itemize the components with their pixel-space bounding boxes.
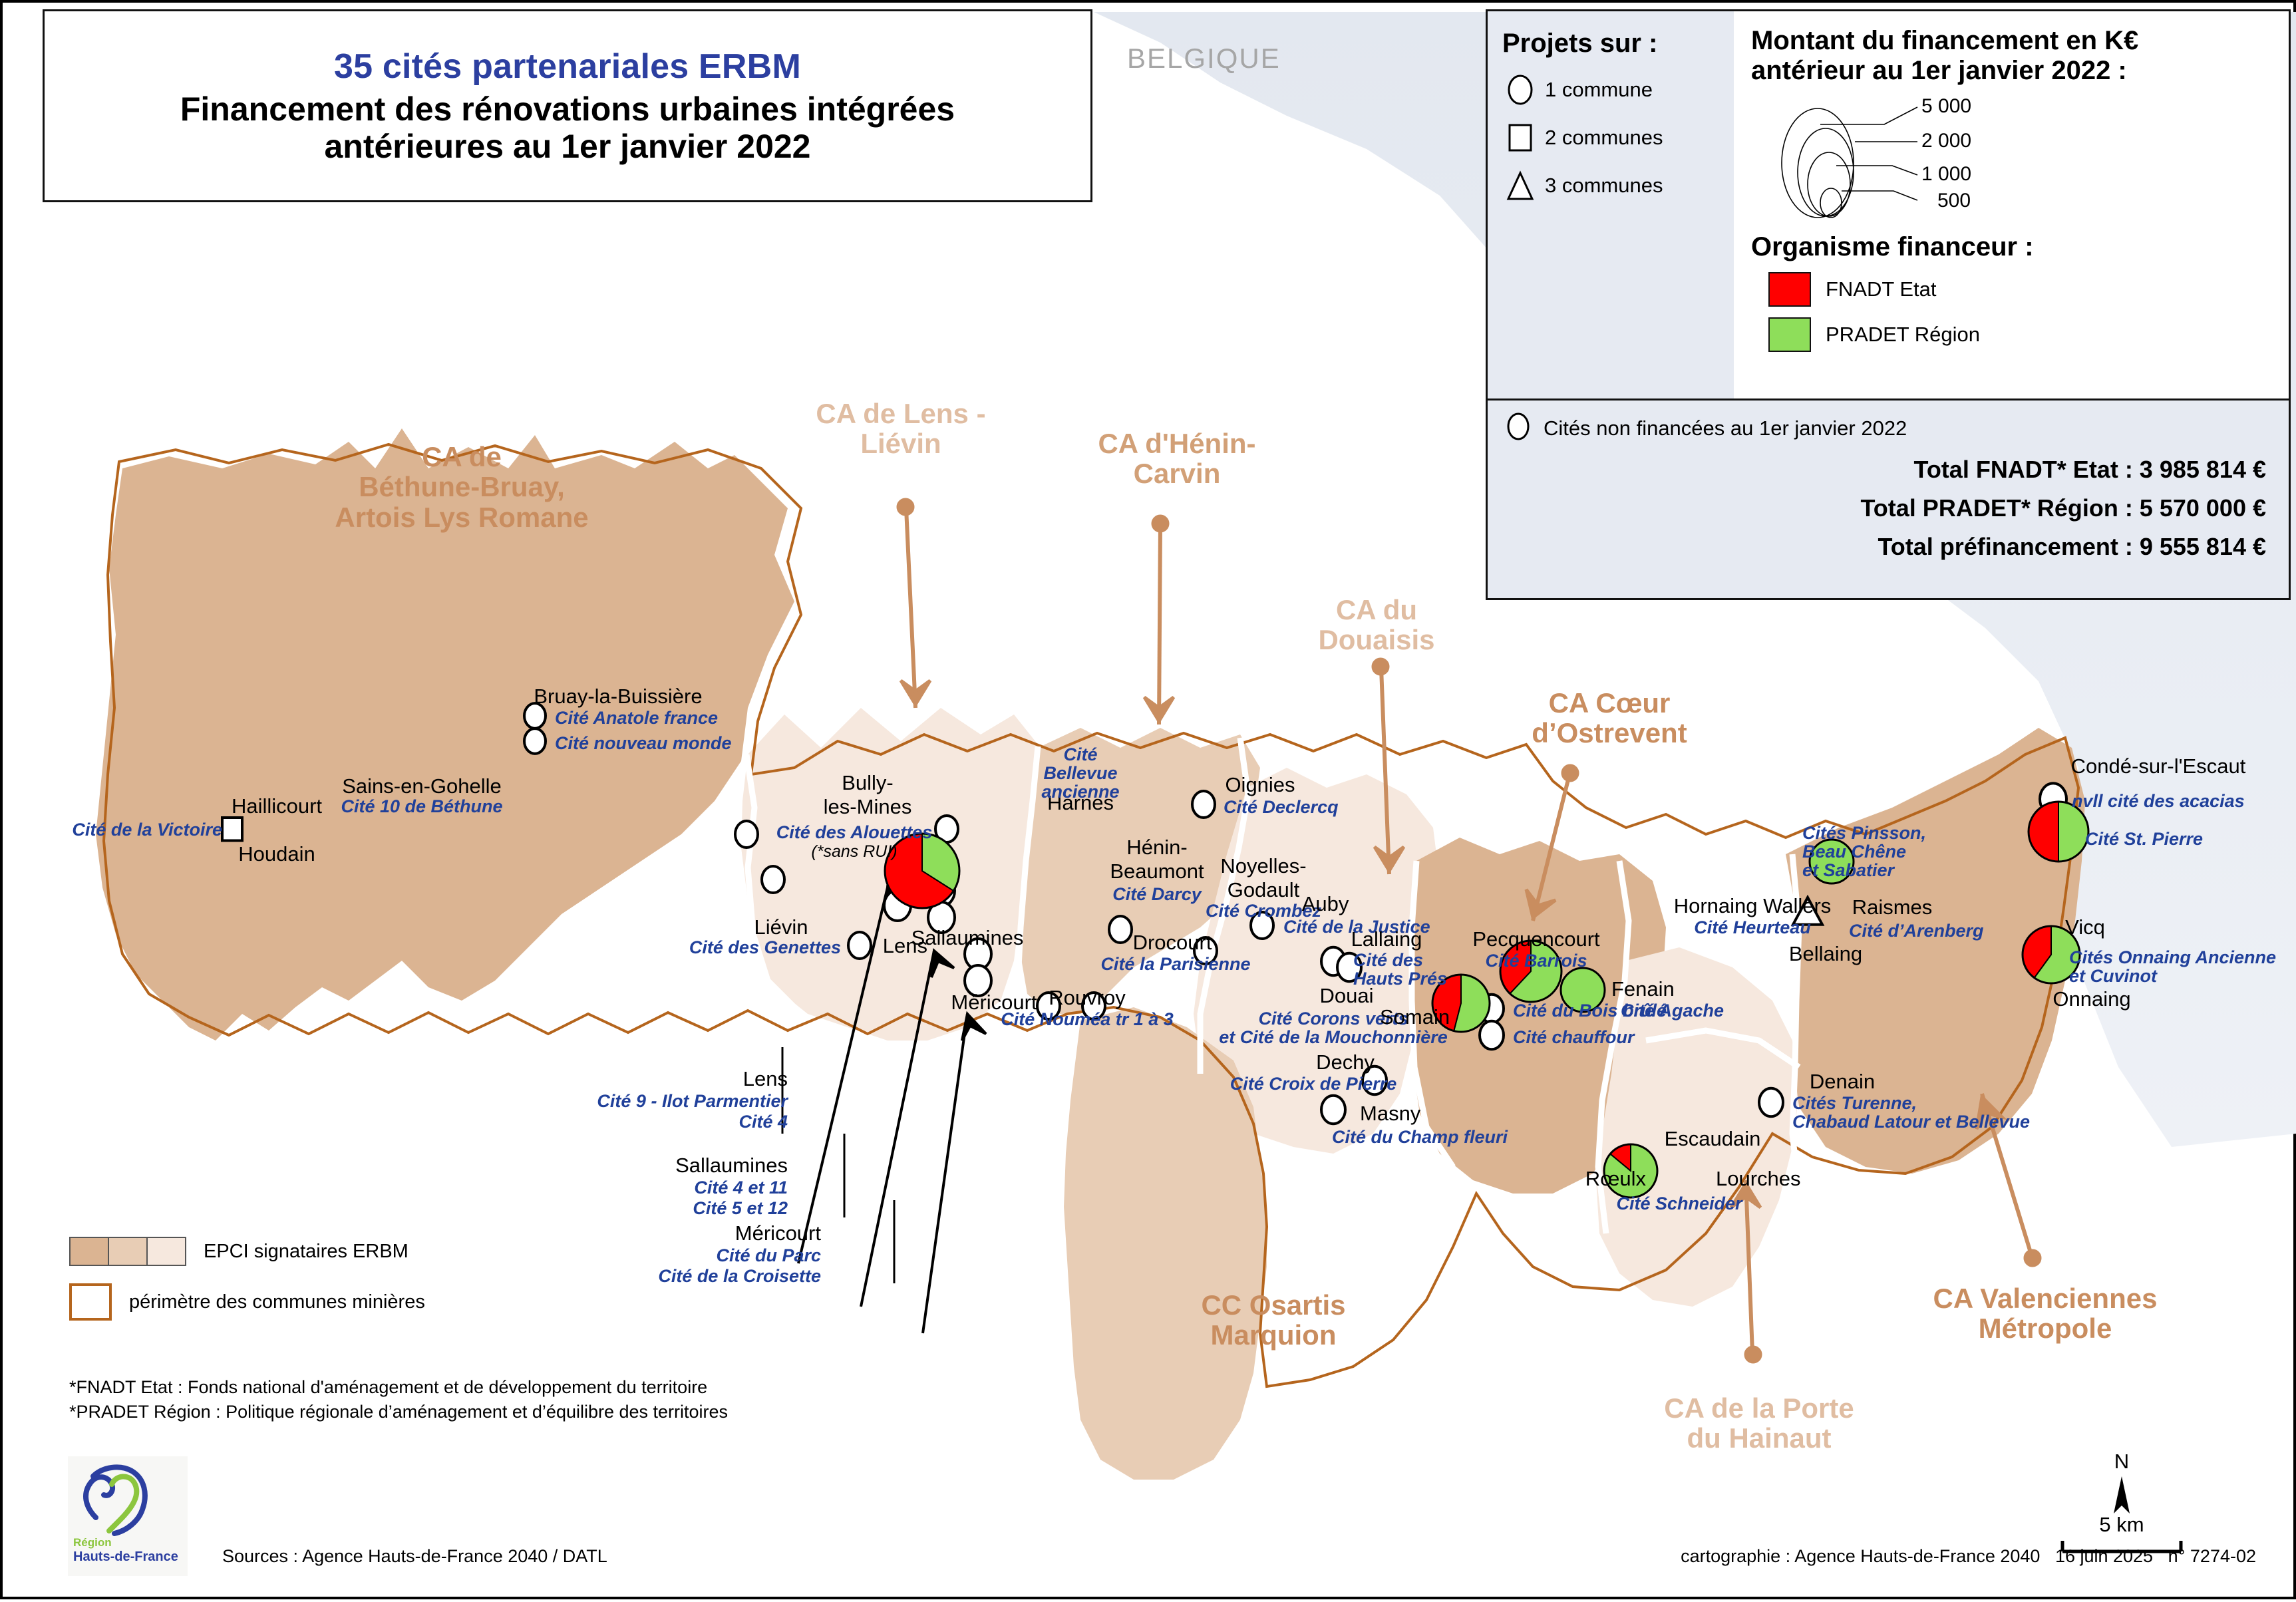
legend-block: Projets sur : 1 commune 2 communes 3 com…	[1486, 9, 2291, 400]
ca-bethune-bruay-line-1: CA de	[275, 442, 648, 472]
ca-lens-lievin-line-2: Liévin	[761, 428, 1041, 458]
map-page: 35 cités partenariales ERBM Financement …	[0, 0, 2296, 1599]
logo-line1: Région	[73, 1536, 112, 1549]
total-prefinancement: Total préfinancement : 9 555 814 €	[1505, 533, 2271, 561]
drocourt-cite-1: Cité la Parisienne	[1092, 954, 1259, 975]
noyelles-godault-commune-label: Noyelles-	[1180, 854, 1347, 878]
square-icon	[1502, 121, 1538, 154]
sallaumines-map-commune-label: Sallaumines	[888, 926, 1047, 950]
legend-amount-heading-l2: antérieur au 1er janvier 2022 :	[1751, 56, 2127, 85]
auby-commune-label: Auby	[1265, 892, 1385, 916]
oignies-cite-1: Cité Declercq	[1224, 797, 1339, 818]
total-fnadt: Total FNADT* Etat : 3 985 814 €	[1505, 456, 2271, 484]
raismes-commune-label: Raismes	[1826, 895, 1959, 919]
pecquencourt-cite-1: Cité Barrois	[1436, 951, 1636, 971]
legend-funder-fnadt-label: FNADT Etat	[1826, 277, 1937, 301]
roeulx-commune-label: Rœulx	[1526, 1167, 1646, 1191]
oignies-commune-label: Oignies	[1194, 773, 1327, 797]
legend-funder-fnadt: FNADT Etat	[1768, 272, 2289, 307]
vicq-commune-label: Vicq	[2025, 915, 2145, 939]
bottom-legend: EPCI signataires ERBM périmètre des comm…	[69, 1237, 425, 1321]
sains-en-gohelle-commune-label: Sains-en-Gohelle	[282, 774, 562, 798]
ca-porte-hainaut: CA de la Portedu Hainaut	[1619, 1393, 1899, 1454]
footnotes: *FNADT Etat : Fonds national d'aménageme…	[69, 1373, 728, 1422]
ca-du-douaisis: CA duDouaisis	[1277, 595, 1476, 655]
somain-cite-2: Cité chauffour	[1513, 1027, 1713, 1048]
unfunded-circle-icon	[1505, 411, 1532, 445]
masny-cite-1: Cité du Champ fleuri	[1310, 1127, 1530, 1148]
ca-bethune-bruay: CA deBéthune-Bruay,Artois Lys Romane	[275, 442, 648, 532]
sallaumines-callout-commune: Sallaumines	[588, 1154, 788, 1178]
lens-callout-cite-2: Cité 4	[588, 1112, 788, 1132]
legend-unfunded-row: Cités non financées au 1er janvier 2022	[1505, 411, 2271, 445]
size-class-500: 500	[1937, 190, 1971, 212]
perimeter-row: périmètre des communes minières	[69, 1283, 425, 1321]
houdain-commune-label: Houdain	[210, 842, 343, 866]
legend-label-2-communes: 2 communes	[1545, 126, 1663, 150]
lens-callout-commune: Lens	[588, 1067, 788, 1091]
cartography-date: 16 juin 2025	[2055, 1546, 2153, 1566]
epci-ramp-row: EPCI signataires ERBM	[69, 1237, 425, 1266]
ca-coeur-ostrevent-line-1: CA Cœur	[1476, 688, 1742, 718]
raismes-cite-3: et Sabatier	[1802, 860, 2002, 881]
legend-projects-heading: Projets sur :	[1502, 29, 1734, 59]
lourches-commune-label: Lourches	[1716, 1167, 1849, 1191]
somain-cite-1: Cité du Bois brûlé	[1513, 1001, 1713, 1021]
mericourt-callout: MéricourtCité du ParcCité de la Croisett…	[635, 1221, 821, 1287]
logo-line2: Hauts-de-France	[73, 1549, 178, 1565]
escaudain-commune-label: Escaudain	[1629, 1127, 1796, 1151]
mericourt-callout-cite-1: Cité du Parc	[635, 1245, 821, 1266]
cartography-number: n° 7274-02	[2168, 1546, 2256, 1566]
sallaumines-callout: SallauminesCité 4 et 11Cité 5 et 12	[588, 1154, 788, 1219]
lievin-cite-1: Cité des Genettes	[675, 937, 841, 958]
proportional-circles-key: 5 000 2 000 1 000 500	[1751, 94, 2289, 227]
vicq-cite-1: Cités Onnaing Ancienne	[2069, 947, 2296, 968]
mericourt-callout-commune: Méricourt	[635, 1221, 821, 1245]
ca-porte-hainaut-line-1: CA de la Porte	[1619, 1393, 1899, 1423]
haillicourt-cite-1: Cité de la Victoire	[43, 820, 222, 840]
epci-ramp-label: EPCI signataires ERBM	[204, 1241, 409, 1263]
raismes-cite-4: Cité d’Arenberg	[1849, 921, 2049, 941]
ca-bethune-bruay-line-3: Artois Lys Romane	[275, 502, 648, 532]
conde-sur-lescaut-cite-2: Cité St. Pierre	[2085, 829, 2285, 850]
perimeter-label: périmètre des communes minières	[129, 1291, 425, 1313]
lens-callout-cite-1: Cité 9 - Ilot Parmentier	[588, 1091, 788, 1112]
legend-row-3-communes: 3 communes	[1502, 169, 1734, 202]
legend-row-2-communes: 2 communes	[1502, 121, 1734, 154]
bellaing-commune-label: Bellaing	[1759, 942, 1892, 966]
legend-funder-pradet-label: PRADET Région	[1826, 323, 1980, 347]
rouvroy-cite-1: Cité Nouméa tr 1 à 3	[981, 1009, 1194, 1030]
bruay-la-buissiere-cite-2: Cité nouveau monde	[555, 733, 732, 754]
sains-en-gohelle-cite-1: Cité 10 de Béthune	[282, 796, 562, 817]
raismes-cite-1: Cités Pinsson,	[1802, 823, 2002, 844]
cartography-text: cartographie : Agence Hauts-de-France 20…	[1681, 1546, 2256, 1567]
legend-row-1-commune: 1 commune	[1502, 73, 1734, 106]
north-label: N	[2102, 1450, 2142, 1474]
perimeter-swatch	[69, 1283, 112, 1321]
title-block: 35 cités partenariales ERBM Financement …	[43, 9, 1092, 202]
dechy-commune-label: Dechy	[1285, 1050, 1405, 1074]
ramp-swatch-light	[148, 1238, 185, 1265]
ca-lens-lievin-line-1: CA de Lens -	[761, 399, 1041, 428]
ramp-swatch-mid	[109, 1238, 148, 1265]
denain-commune-label: Denain	[1776, 1070, 1909, 1094]
ca-porte-hainaut-line-2: du Hainaut	[1619, 1423, 1899, 1453]
ca-henin-carvin-line-1: CA d'Hénin-	[1047, 428, 1307, 458]
mericourt-callout-cite-2: Cité de la Croisette	[635, 1266, 821, 1287]
footnote-fnadt: *FNADT Etat : Fonds national d'aménageme…	[69, 1377, 728, 1398]
conde-sur-lescaut-commune-label: Condé-sur-l'Escaut	[2025, 754, 2291, 778]
rouvroy-commune-label: Rouvroy	[1014, 986, 1160, 1010]
page-subtitle-line1: Financement des rénovations urbaines int…	[180, 90, 955, 128]
totals-block: Cités non financées au 1er janvier 2022 …	[1486, 400, 2291, 600]
size-class-1000: 1 000	[1921, 163, 1971, 186]
cartography-author: cartographie : Agence Hauts-de-France 20…	[1681, 1546, 2040, 1566]
hauts-de-france-logo-icon	[68, 1456, 188, 1536]
circle-icon	[1502, 73, 1538, 106]
region-logo: Région Hauts-de-France	[68, 1456, 188, 1576]
ca-valenciennes-line-2: Métropole	[1899, 1313, 2192, 1343]
footnote-pradet: *PRADET Région : Politique régionale d’a…	[69, 1402, 728, 1422]
masny-commune-label: Masny	[1360, 1102, 1466, 1126]
fenain-commune-label: Fenain	[1611, 977, 1718, 1001]
bully-les-mines-cite-1: Cité des Alouettes	[748, 822, 961, 843]
size-class-2000: 2 000	[1921, 130, 1971, 152]
legend-unfunded-label: Cités non financées au 1er janvier 2022	[1544, 416, 1907, 440]
ca-du-douaisis-line-2: Douaisis	[1277, 625, 1476, 655]
lallaing-commune-label: Lallaing	[1320, 927, 1453, 951]
onnaing-commune-label: Onnaing	[2025, 987, 2158, 1011]
somain-commune-label: Somain	[1380, 1005, 1493, 1029]
ca-valenciennes-line-1: CA Valenciennes	[1899, 1283, 2192, 1313]
total-pradet: Total PRADET* Région : 5 570 000 €	[1505, 494, 2271, 522]
ca-valenciennes: CA ValenciennesMétropole	[1899, 1283, 2192, 1344]
legend-amounts: Montant du financement en K€ antérieur a…	[1734, 11, 2289, 399]
lievin-commune-label: Liévin	[728, 915, 834, 939]
nested-circles-icon	[1751, 94, 2050, 227]
ca-du-douaisis-line-1: CA du	[1277, 595, 1476, 625]
page-title: 35 cités partenariales ERBM	[334, 47, 801, 86]
denain-cite-2: Chabaud Latour et Bellevue	[1792, 1112, 2072, 1132]
size-class-5000: 5 000	[1921, 95, 1971, 118]
sallaumines-callout-cite-2: Cité 5 et 12	[588, 1198, 788, 1219]
ca-coeur-ostrevent: CA Cœurd’Ostrevent	[1476, 688, 1742, 748]
sallaumines-callout-cite-1: Cité 4 et 11	[588, 1178, 788, 1198]
pecquencourt-commune-label: Pecquencourt	[1436, 927, 1636, 951]
lens-callout: LensCité 9 - Ilot ParmentierCité 4	[588, 1067, 788, 1132]
bruay-la-buissiere-commune-label: Bruay-la-Buissière	[522, 685, 715, 709]
fnadt-color-swatch	[1768, 272, 1811, 307]
country-label-belgique: BELGIQUE	[1127, 43, 1281, 75]
scale-label: 5 km	[2058, 1513, 2185, 1537]
triangle-icon	[1502, 169, 1538, 202]
page-subtitle: Financement des rénovations urbaines int…	[180, 90, 955, 165]
epci-color-ramp	[69, 1237, 186, 1266]
harnes-cite-3: ancienne	[1014, 782, 1147, 802]
hornaing-cite-1: Cité Heurteau	[1636, 917, 1869, 938]
ca-lens-lievin: CA de Lens -Liévin	[761, 399, 1041, 459]
denain-cite-1: Cités Turenne,	[1792, 1093, 2019, 1114]
bruay-la-buissiere-cite-1: Cité Anatole france	[555, 708, 718, 728]
cc-osartis-marquion-line-1: CC Osartis	[1134, 1290, 1413, 1320]
legend-funder-heading: Organisme financeur :	[1751, 232, 2289, 262]
ca-henin-carvin: CA d'Hénin-Carvin	[1047, 428, 1307, 489]
drocourt-commune-label: Drocourt	[1099, 931, 1245, 955]
legend-projects: Projets sur : 1 commune 2 communes 3 com…	[1488, 11, 1734, 399]
page-subtitle-line2: antérieures au 1er janvier 2022	[324, 128, 810, 165]
bully-les-mines-cite-2: (*sans RUI)	[748, 842, 961, 862]
conde-sur-lescaut-cite-1: nvll cité des acacias	[2072, 791, 2296, 812]
douai-cite-2: et Cité de la Mouchonnière	[1194, 1027, 1473, 1048]
harnes-cite-1: Cité	[1014, 744, 1147, 765]
harnes-cite-2: Bellevue	[1014, 763, 1147, 784]
vicq-cite-2: et Cuvinot	[2069, 966, 2296, 987]
douai-commune-label: Douai	[1283, 984, 1410, 1008]
legend-amount-heading-l1: Montant du financement en K€	[1751, 26, 2138, 55]
cc-osartis-marquion-line-2: Marquion	[1134, 1320, 1413, 1350]
legend-amount-heading: Montant du financement en K€ antérieur a…	[1751, 26, 2289, 86]
ramp-swatch-dark	[71, 1238, 109, 1265]
sources-text: Sources : Agence Hauts-de-France 2040 / …	[222, 1546, 607, 1567]
cc-osartis-marquion: CC OsartisMarquion	[1134, 1290, 1413, 1351]
pradet-color-swatch	[1768, 317, 1811, 352]
legend-label-1-commune: 1 commune	[1545, 78, 1653, 102]
bully-les-mines-commune-label-2: les-Mines	[788, 795, 947, 819]
ca-coeur-ostrevent-line-2: d’Ostrevent	[1476, 718, 1742, 748]
raismes-cite-2: Beau Chêne	[1802, 842, 2002, 862]
dechy-cite-1: Cité Croix de Pierre	[1224, 1074, 1403, 1094]
legend-funder-pradet: PRADET Région	[1768, 317, 2289, 352]
bully-les-mines-commune-label: Bully-	[788, 771, 947, 795]
legend-label-3-communes: 3 communes	[1545, 174, 1663, 198]
lourches-cite-1: Cité Schneider	[1579, 1194, 1779, 1214]
ca-henin-carvin-line-2: Carvin	[1047, 458, 1307, 488]
ca-bethune-bruay-line-2: Béthune-Bruay,	[275, 472, 648, 502]
